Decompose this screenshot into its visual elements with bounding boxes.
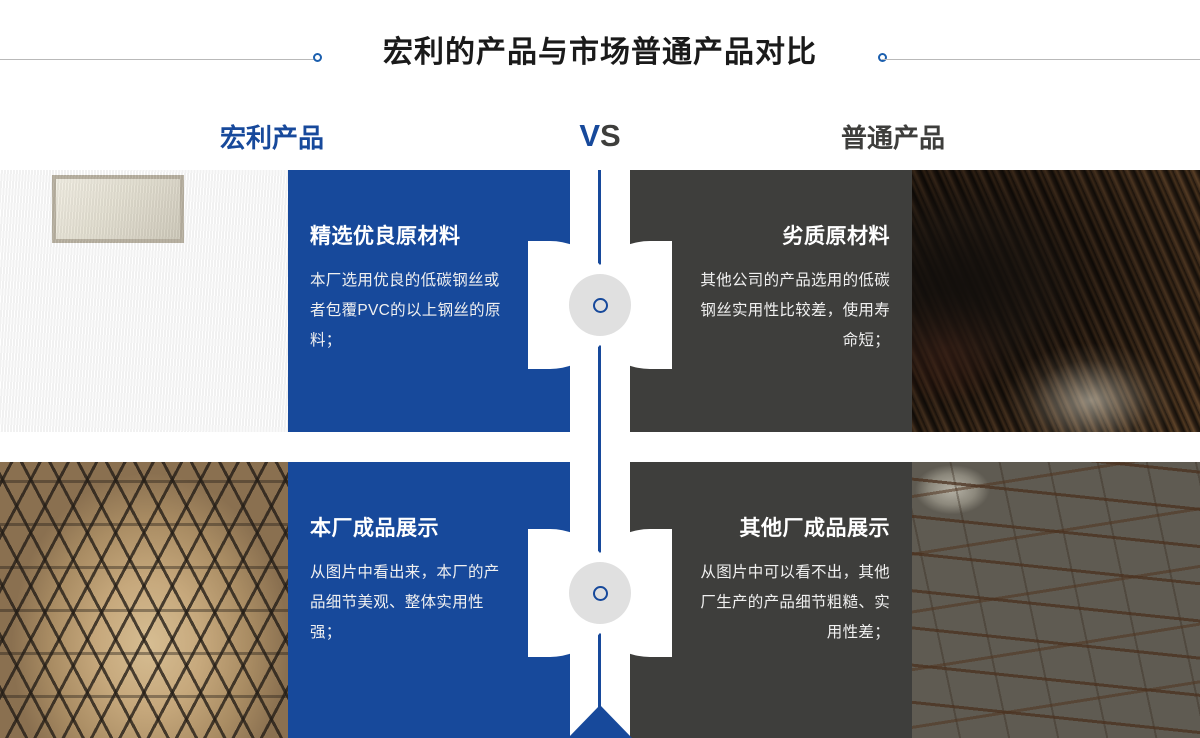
title-band: 宏利的产品与市场普通产品对比 <box>0 0 1200 100</box>
ring-icon-1 <box>593 298 608 313</box>
photo-left-row-1 <box>0 170 288 432</box>
panel-title-right-row-2: 其他厂成品展示 <box>688 514 890 544</box>
panel-title-left-row-1: 精选优良原材料 <box>310 222 512 252</box>
steel-wire-coils-image <box>0 170 288 432</box>
panel-title-left-row-2: 本厂成品展示 <box>310 514 512 544</box>
panel-title-right-row-1: 劣质原材料 <box>688 222 890 252</box>
photo-right-row-1 <box>912 170 1200 432</box>
panel-body-left-row-2: 从图片中看出来，本厂的产品细节美观、整体实用性强； <box>310 558 512 648</box>
column-header-right: 普通产品 <box>841 118 945 158</box>
panel-body-left-row-1: 本厂选用优良的低碳钢丝或者包覆PVC的以上钢丝的原料； <box>310 266 512 356</box>
vs-letter-s: S <box>600 118 621 153</box>
page-title: 宏利的产品与市场普通产品对比 <box>0 34 1200 72</box>
timeline-node-1 <box>569 274 631 336</box>
timeline-arrow-icon <box>568 705 632 738</box>
panel-right-row-2: 其他厂成品展示 从图片中可以看不出，其他厂生产的产品细节粗糙、实用性差； <box>630 462 912 738</box>
panel-right-row-1: 劣质原材料 其他公司的产品选用的低碳钢丝实用性比较差，使用寿命短； <box>630 170 912 432</box>
title-rule-right <box>882 59 1200 60</box>
column-header-left: 宏利产品 <box>220 118 324 158</box>
comparison-infographic: 宏利的产品与市场普通产品对比 宏利产品 VS 普通产品 精选优良原材料 本厂选用… <box>0 0 1200 738</box>
gabion-boulder-image <box>0 462 288 738</box>
rusty-wire-coil-image <box>912 170 1200 432</box>
photo-left-row-2 <box>0 462 288 738</box>
vs-letter-v: V <box>579 118 600 153</box>
timeline-node-2 <box>569 562 631 624</box>
ring-icon-2 <box>593 586 608 601</box>
panel-body-right-row-1: 其他公司的产品选用的低碳钢丝实用性比较差，使用寿命短； <box>688 266 890 356</box>
circle-marker-icon-right <box>878 53 887 62</box>
panel-body-right-row-2: 从图片中可以看不出，其他厂生产的产品细节粗糙、实用性差； <box>688 558 890 648</box>
gabion-wall-image <box>912 462 1200 738</box>
vs-label: VS <box>540 115 660 157</box>
photo-right-row-2 <box>912 462 1200 738</box>
